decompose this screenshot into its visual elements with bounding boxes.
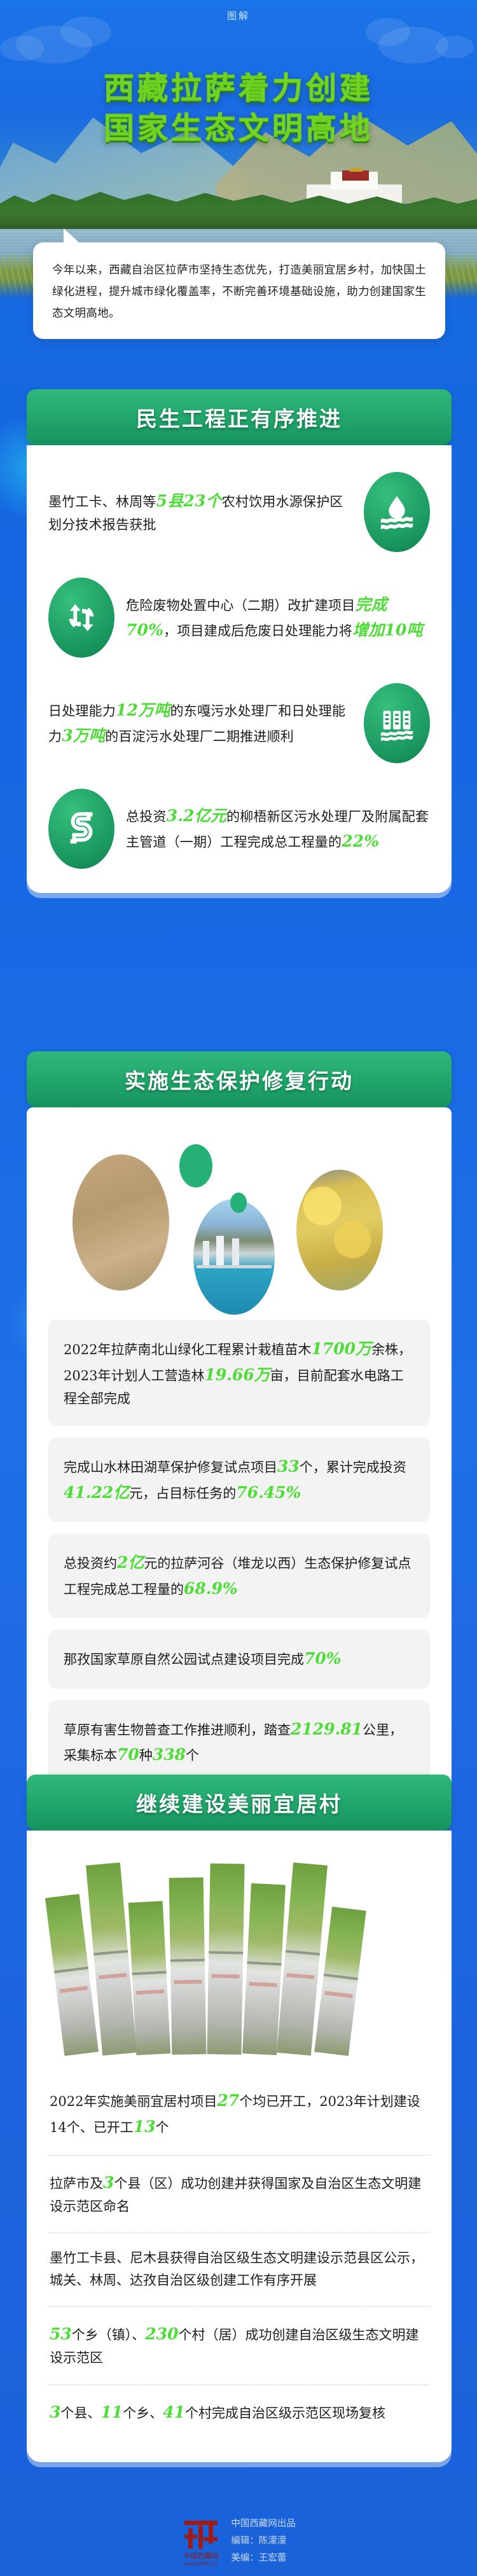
treatment-plant-icon — [364, 683, 430, 763]
highlight-value: 22% — [342, 832, 379, 850]
body-text: 总投资 — [126, 809, 167, 824]
tibet-net-logo: 中国西藏网 www.tibet.cn — [181, 2516, 221, 2566]
section-header: 继续建设美丽宜居村 — [27, 1775, 452, 1831]
body-text: 日处理能力 — [48, 703, 116, 719]
intro-text: 今年以来，西藏自治区拉萨市坚持生态优先，打造美丽宜居乡村，加快国土绿化进程，提升… — [52, 259, 426, 324]
achievement-list: 2022年实施美丽宜居村项目27个均已开工，2023年计划建设14个、已开工13… — [48, 2070, 430, 2441]
highlight-value: 3万吨 — [62, 726, 105, 745]
aerial-farmland-photo — [73, 1154, 169, 1291]
cloud-shape — [0, 36, 45, 61]
cloud-shape — [436, 36, 474, 59]
highlight-value: 70 — [117, 1745, 139, 1764]
stat-card: 草原有害生物普查工作推进顺利，踏查2129.81公里，采集标本70种338个 — [48, 1700, 430, 1785]
project-item-row: 日处理能力12万吨的东嘎污水处理厂和日处理能力3万吨的百淀污水处理厂二期推进顺利 — [48, 683, 430, 763]
page-title: 西藏拉萨着力创建 国家生态文明高地 — [0, 69, 477, 149]
highlight-value: 2亿 — [117, 1553, 144, 1572]
body-text: 拉萨市及 — [50, 2176, 103, 2191]
section-body: 墨竹工卡、林周等5县23个农村饮用水源保护区划分技术报告获批危险废物处置中心（二… — [27, 445, 452, 893]
section-header: 民生工程正有序推进 — [27, 389, 452, 445]
lhasa-river-city-photo — [193, 1199, 275, 1315]
body-text: 元，占目标任务的 — [129, 1486, 236, 1501]
body-text: 的百淀污水处理厂二期推进顺利 — [105, 729, 294, 744]
body-text: 2022年实施美丽宜居村项目 — [50, 2094, 217, 2109]
body-text: 个县、 — [60, 2406, 100, 2421]
body-text: 完成山水林田湖草保护修复试点项目 — [64, 1460, 277, 1475]
green-dot-small — [230, 1193, 247, 1213]
stat-card: 那孜国家草原自然公园试点建设项目完成70% — [48, 1630, 430, 1689]
highlight-value: 3.2亿元 — [167, 807, 227, 825]
recycle-arrows-icon — [48, 578, 114, 658]
title-line-2: 国家生态文明高地 — [0, 109, 477, 149]
highlight-value: 230 — [145, 2325, 178, 2343]
infographic-page: 图解 西藏拉萨着力创建 国家生态文明高地 今年以来，西藏自治区拉萨市坚持生态优先… — [0, 0, 477, 2576]
highlight-value: 1700万 — [311, 1340, 371, 1358]
village-photo-slice — [207, 1864, 244, 2055]
callout-tail — [64, 228, 80, 244]
highlight-value: 68.9% — [184, 1579, 238, 1598]
water-drop-waves-icon — [364, 472, 430, 552]
project-item-text: 日处理能力12万吨的东嘎污水处理厂和日处理能力3万吨的百淀污水处理厂二期推进顺利 — [48, 698, 352, 749]
project-item-row: 危险废物处置中心（二期）改扩建项目完成70%，项目建成后危废日处理能力将增加10… — [48, 578, 430, 658]
credit-producer: 中国西藏网出品 — [231, 2516, 296, 2533]
village-photo-slice — [128, 1901, 170, 2055]
highlight-value: 3 — [50, 2403, 60, 2421]
highlight-value: 增加10吨 — [352, 621, 423, 639]
highlight-value: 27 — [217, 2091, 239, 2110]
highlight-value: 41 — [163, 2403, 185, 2421]
tibetan-village-aerial-photo — [48, 1864, 430, 2054]
body-text: 那孜国家草原自然公园试点建设项目完成 — [64, 1652, 304, 1667]
credits: 中国西藏网出品 编辑：陈濛濛 美编：王宏蕾 — [231, 2516, 296, 2566]
body-text: 2022年拉萨南北山绿化工程累计栽植苗木 — [64, 1342, 311, 1357]
stat-card: 完成山水林田湖草保护修复试点项目33个，累计完成投资41.22亿元，占目标任务的… — [48, 1437, 430, 1522]
highlight-value: 5县23个 — [156, 492, 222, 510]
body-text: 墨竹工卡、林周等 — [48, 494, 156, 509]
section-title: 实施生态保护修复行动 — [125, 1064, 354, 1095]
body-text: 个，累计完成投资 — [300, 1460, 406, 1475]
section-body: 2022年实施美丽宜居村项目27个均已开工，2023年计划建设14个、已开工13… — [27, 1831, 452, 2462]
section-beautiful-villages: 继续建设美丽宜居村 2022年实施美丽宜居村项目27个均已开工，2023年计划建… — [27, 1775, 452, 2462]
project-item-row: 总投资3.2亿元的柳梧新区污水处理厂及附属配套主管道（一期）工程完成总工程量的2… — [48, 789, 430, 869]
stat-card-list: 2022年拉萨南北山绿化工程累计栽植苗木1700万余株，2023年计划人工营造林… — [48, 1320, 430, 1785]
section-title: 民生工程正有序推进 — [136, 402, 342, 433]
village-photo-slice — [314, 1907, 366, 2056]
achievement-item: 2022年实施美丽宜居村项目27个均已开工，2023年计划建设14个、已开工13… — [48, 2074, 430, 2156]
highlight-value: 2129.81 — [291, 1720, 363, 1738]
body-text: 个 — [186, 1748, 199, 1763]
footer: 中国西藏网 www.tibet.cn 中国西藏网出品 编辑：陈濛濛 美编：王宏蕾 — [0, 2516, 477, 2566]
highlight-value: 41.22亿 — [64, 1483, 129, 1502]
body-text: 墨竹工卡县、尼木县获得自治区级生态文明建设示范县区公示，城关、林周、达孜自治区级… — [50, 2250, 424, 2287]
body-text: 个乡、 — [123, 2406, 163, 2421]
logo-name: 中国西藏网 — [181, 2551, 221, 2561]
achievement-item: 53个乡（镇）、230个村（居）成功创建自治区级生态文明建设示范区 — [48, 2307, 430, 2385]
intro-callout: 今年以来，西藏自治区拉萨市坚持生态优先，打造美丽宜居乡村，加快国土绿化进程，提升… — [33, 242, 445, 339]
logo-url: www.tibet.cn — [181, 2561, 221, 2566]
autumn-trees-photo — [296, 1170, 383, 1291]
achievement-item: 拉萨市及3个县（区）成功创建并获得国家及自治区生态文明建设示范区命名 — [48, 2156, 430, 2233]
credit-designer: 美编：王宏蕾 — [231, 2550, 296, 2567]
green-dot-large — [179, 1144, 212, 1188]
highlight-value: 53 — [50, 2325, 72, 2343]
highlight-value: 338 — [153, 1745, 186, 1764]
project-item-text: 墨竹工卡、林周等5县23个农村饮用水源保护区划分技术报告获批 — [48, 488, 352, 536]
highlight-value: 12万吨 — [116, 701, 170, 719]
achievement-item: 3个县、11个乡、41个村完成自治区级示范区现场复核 — [48, 2385, 430, 2441]
section-livelihood-projects: 民生工程正有序推进 墨竹工卡、林周等5县23个农村饮用水源保护区划分技术报告获批… — [27, 389, 452, 893]
stat-card: 总投资约2亿元的拉萨河谷（堆龙以西）生态保护修复试点工程完成总工程量的68.9% — [48, 1534, 430, 1618]
body-text: 个村完成自治区级示范区现场复核 — [185, 2406, 385, 2421]
pipe-icon — [48, 789, 114, 869]
section-eco-restoration: 实施生态保护修复行动 2022年拉萨南北山绿化工程累计栽植苗木1700万余株，2… — [27, 1051, 452, 1808]
photo-cluster — [48, 1137, 430, 1308]
body-text: 种 — [139, 1748, 153, 1763]
body-text: 个 — [156, 2120, 169, 2135]
stat-card: 2022年拉萨南北山绿化工程累计栽植苗木1700万余株，2023年计划人工营造林… — [48, 1320, 430, 1426]
section-body: 2022年拉萨南北山绿化工程累计栽植苗木1700万余株，2023年计划人工营造林… — [27, 1107, 452, 1808]
highlight-value: 33 — [277, 1457, 300, 1476]
highlight-value: 70% — [304, 1649, 342, 1668]
tujie-badge: 图解 — [0, 9, 477, 22]
body-text: ，项目建成后危废日处理能力将 — [163, 623, 352, 639]
project-item-text: 危险废物处置中心（二期）改扩建项目完成70%，项目建成后危废日处理能力将增加10… — [126, 592, 430, 644]
section-title: 继续建设美丽宜居村 — [136, 1787, 342, 1818]
highlight-value: 11 — [100, 2403, 123, 2421]
project-item-text: 总投资3.2亿元的柳梧新区污水处理厂及附属配套主管道（一期）工程完成总工程量的2… — [126, 803, 430, 855]
village-photo-slice — [169, 1878, 207, 2055]
achievement-item: 墨竹工卡县、尼木县获得自治区级生态文明建设示范县区公示，城关、林周、达孜自治区级… — [48, 2233, 430, 2307]
title-line-1: 西藏拉萨着力创建 — [0, 69, 477, 109]
highlight-value: 19.66万 — [204, 1366, 270, 1384]
highlight-value: 3 — [103, 2173, 114, 2192]
body-text: 总投资约 — [64, 1556, 117, 1571]
body-text: 个乡（镇）、 — [72, 2327, 146, 2343]
highlight-value: 13 — [134, 2117, 156, 2136]
section-header: 实施生态保护修复行动 — [27, 1051, 452, 1107]
highlight-value: 76.45% — [236, 1483, 301, 1502]
logo-mark-icon — [184, 2516, 218, 2549]
credit-editor: 编辑：陈濛濛 — [231, 2533, 296, 2550]
project-item-row: 墨竹工卡、林周等5县23个农村饮用水源保护区划分技术报告获批 — [48, 472, 430, 552]
body-text: 草原有害生物普查工作推进顺利，踏查 — [64, 1722, 291, 1738]
body-text: 危险废物处置中心（二期）改扩建项目 — [126, 598, 355, 613]
